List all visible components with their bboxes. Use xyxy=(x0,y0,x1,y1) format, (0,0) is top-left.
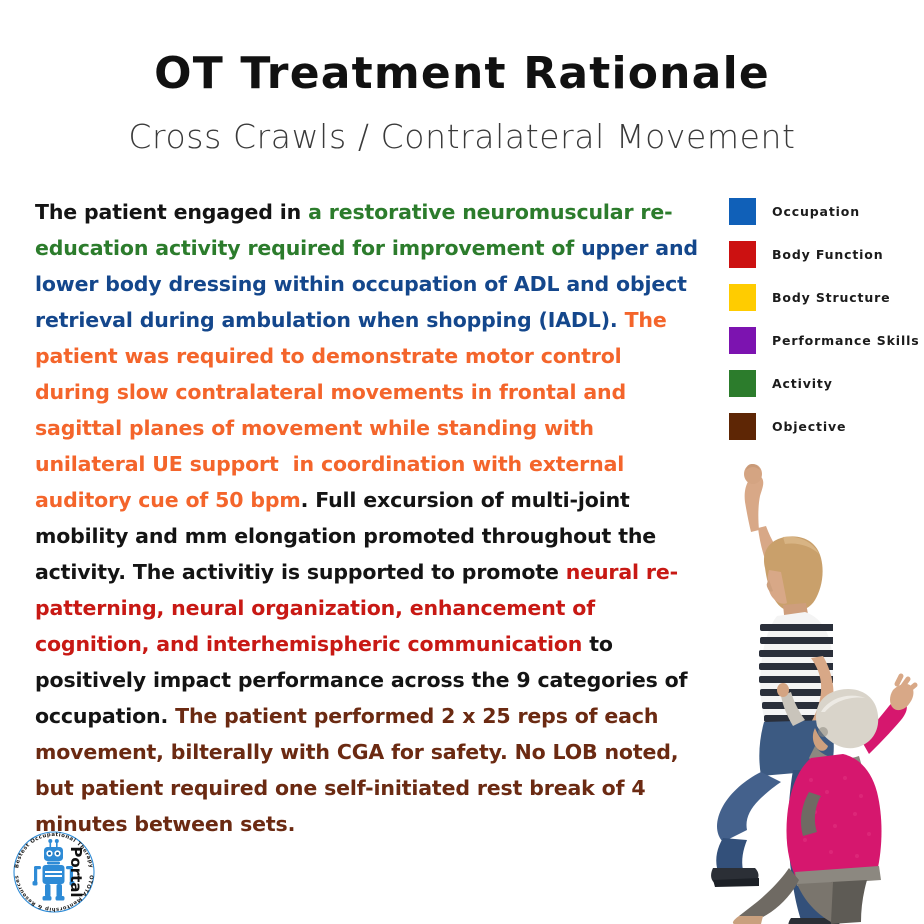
legend-color-swatch xyxy=(729,413,756,440)
legend-item-label: Occupation xyxy=(772,204,860,219)
treatment-rationale-narrative: The patient engaged in a restorative neu… xyxy=(35,194,700,842)
logo-center-text: Portal xyxy=(67,846,85,897)
legend-item: Body Function xyxy=(729,233,924,276)
legend-item-label: Body Structure xyxy=(772,290,890,305)
legend-item-label: Activity xyxy=(772,376,833,391)
legend-color-swatch xyxy=(729,241,756,268)
figure-two-photo xyxy=(733,676,915,924)
ototaportal-logo[interactable]: Bestest Occupational Therapy OTOTA Mento… xyxy=(8,826,100,918)
legend-item: Activity xyxy=(729,362,924,405)
figure-one-photo xyxy=(711,464,845,924)
legend-item: Objective xyxy=(729,405,924,448)
legend-color-swatch xyxy=(729,327,756,354)
header: OT Treatment Rationale Cross Crawls / Co… xyxy=(0,0,924,153)
category-legend: OccupationBody FunctionBody StructurePer… xyxy=(729,190,924,448)
legend-item: Body Structure xyxy=(729,276,924,319)
page-subtitle: Cross Crawls / Contralateral Movement xyxy=(0,96,924,153)
narrative-segment-orange: The patient was required to demonstrate … xyxy=(35,308,674,512)
legend-item-label: Objective xyxy=(772,419,846,434)
legend-item: Occupation xyxy=(729,190,924,233)
exercise-photo-group xyxy=(665,440,924,924)
legend-color-swatch xyxy=(729,284,756,311)
legend-item-label: Body Function xyxy=(772,247,883,262)
legend-color-swatch xyxy=(729,198,756,225)
narrative-segment-black: The patient engaged in xyxy=(35,200,308,224)
legend-color-swatch xyxy=(729,370,756,397)
legend-item: Performance Skills xyxy=(729,319,924,362)
legend-item-label: Performance Skills xyxy=(772,333,920,348)
page-title: OT Treatment Rationale xyxy=(0,0,924,96)
